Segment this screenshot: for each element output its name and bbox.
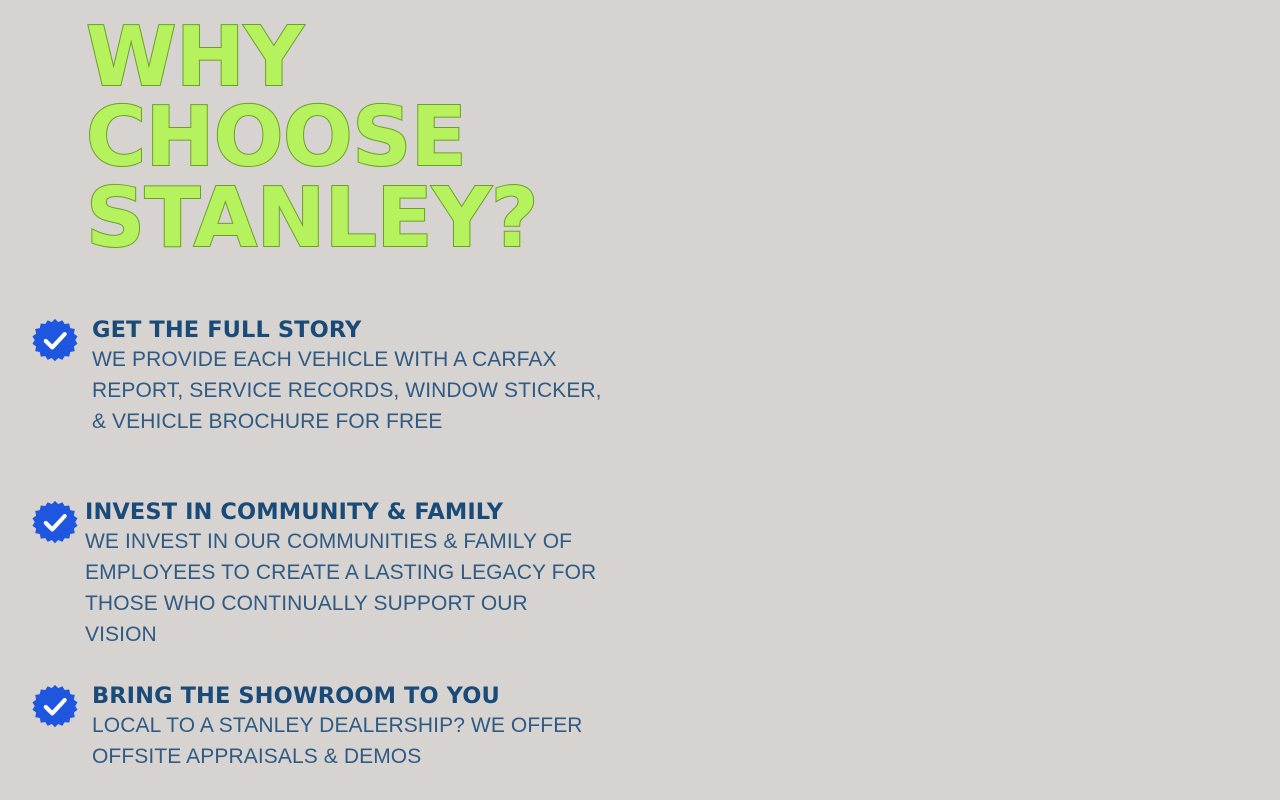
benefit-item: GET THE FULL STORY WE PROVIDE EACH VEHIC…	[32, 318, 602, 438]
benefit-text: INVEST IN COMMUNITY & FAMILY WE INVEST I…	[85, 500, 602, 651]
infographic-page: WHY CHOOSE STANLEY? GET THE FULL STORY W…	[0, 0, 1280, 800]
right-column: NO HIDDEN DEALER FEES NO ADDENDUMS, ADD …	[650, 0, 1280, 800]
verified-check-badge-icon	[32, 500, 78, 546]
benefit-description: WE INVEST IN OUR COMMUNITIES & FAMILY OF…	[85, 527, 602, 650]
benefit-item: INVEST IN COMMUNITY & FAMILY WE INVEST I…	[32, 500, 602, 651]
benefit-description: WE PROVIDE EACH VEHICLE WITH A CARFAX RE…	[92, 345, 602, 438]
benefit-description: LOCAL TO A STANLEY DEALERSHIP? WE OFFER …	[92, 711, 602, 773]
benefit-title: INVEST IN COMMUNITY & FAMILY	[85, 500, 602, 525]
verified-check-badge-icon	[32, 318, 78, 364]
benefit-text: GET THE FULL STORY WE PROVIDE EACH VEHIC…	[92, 318, 602, 438]
benefit-title: BRING THE SHOWROOM TO YOU	[92, 684, 602, 709]
benefit-text: BRING THE SHOWROOM TO YOU LOCAL TO A STA…	[92, 684, 602, 773]
benefit-item: BRING THE SHOWROOM TO YOU LOCAL TO A STA…	[32, 684, 602, 773]
page-title: WHY CHOOSE STANLEY?	[86, 18, 626, 259]
benefit-title: GET THE FULL STORY	[92, 318, 602, 343]
verified-check-badge-icon	[32, 684, 78, 730]
left-column: WHY CHOOSE STANLEY? GET THE FULL STORY W…	[0, 0, 630, 800]
